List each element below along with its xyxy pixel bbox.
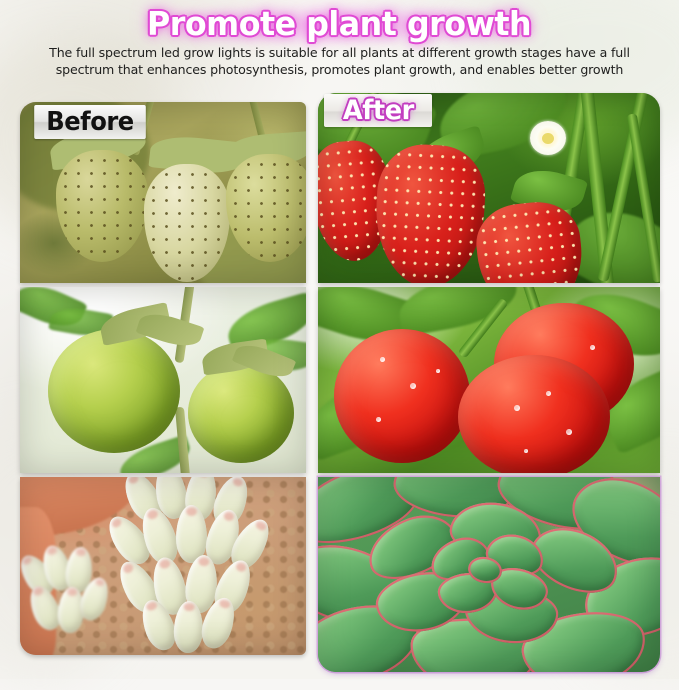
water-droplet <box>524 449 528 453</box>
water-droplet <box>410 383 416 389</box>
page-title-text: Promote plant growth <box>147 6 531 42</box>
water-droplet <box>514 405 520 411</box>
comparison-image-before-tomato <box>20 287 306 473</box>
photo-red-tomatoes <box>318 287 660 473</box>
red-tomato <box>458 355 610 473</box>
ripe-strawberry <box>372 142 487 283</box>
water-droplet <box>590 345 595 350</box>
badge-after: After <box>324 94 432 127</box>
water-droplet <box>436 369 440 373</box>
green-tomato <box>48 329 180 453</box>
photo-pale-succulent <box>20 477 306 655</box>
strawberry-blossom-center <box>542 133 554 144</box>
page-title: Promote plant growth <box>0 4 679 44</box>
photo-green-tomatoes <box>20 287 306 473</box>
page-subtitle: The full spectrum led grow lights is sui… <box>38 45 641 78</box>
comparison-image-before-succulent <box>20 477 306 655</box>
green-tomato <box>188 363 294 463</box>
water-droplet <box>546 391 551 396</box>
comparison-image-after-tomato <box>318 287 660 473</box>
photo-green-echeveria <box>318 477 660 672</box>
red-tomato <box>334 329 470 463</box>
water-droplet <box>380 357 385 362</box>
succulent-cluster-main <box>108 477 288 655</box>
unripe-strawberry <box>56 150 148 262</box>
water-droplet <box>566 429 572 435</box>
comparison-image-after-succulent <box>318 477 660 672</box>
badge-before-label: Before <box>46 107 134 137</box>
badge-after-label: After <box>343 95 414 126</box>
badge-before: Before <box>34 105 146 139</box>
water-droplet <box>376 417 381 422</box>
